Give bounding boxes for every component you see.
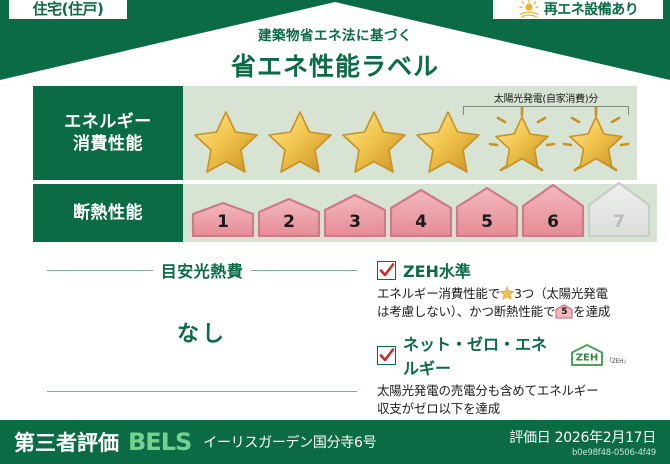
divider-left [47,270,153,271]
insulation-level-2: 2 [257,194,321,237]
energy-label-line1: エネルギー [64,111,152,133]
utility-cost-header: 目安光熱費 [33,258,371,282]
insulation-level-7: 7 [587,181,651,237]
star-solar-6 [559,104,633,176]
criterion-net-zero-description: 太陽光発電の売電分も含めてエネルギー 収支がゼロ以下を達成 [377,382,629,418]
criterion-net-zero-header: ネット・ゼロ・エネルギー ZEH 「ZEH」 [377,331,629,379]
zeh-desc-part2: 3つ（太陽光発電 [514,286,608,301]
inline-star-icon [500,286,514,300]
property-name: イーリスガーデン国分寺6号 [203,432,376,452]
star-filled-4 [411,104,485,176]
badge-renewable-equipment: 再エネ設備あり [492,0,664,20]
footer-meta: 評価日 2026年2月17日 b0e98f48-0506-4f49 [509,427,656,458]
energy-performance-label: 住宅(住戸) 再エネ設備あり 建築物省エネ法に基づく 省エネ性能ラベル [0,0,670,464]
zeh-house-logo-icon: ZEH [570,343,604,367]
criterion-zeh-level-header: ZEH水準 [377,258,629,282]
utility-cost-panel: 目安光熱費 なし [33,252,371,408]
solar-bracket-label: 太陽光発電(自家消費)分 [463,90,629,105]
insulation-level-5-number: 5 [455,212,519,232]
criterion-net-zero-title: ネット・ゼロ・エネルギー [403,331,559,379]
insulation-rating-area: 1 2 3 4 [183,184,657,242]
badge-house-type: 住宅(住戸) [8,0,128,20]
energy-performance-row: エネルギー 消費性能 太陽光発電(自家消費)分 [33,86,637,180]
insulation-label: 断熱性能 [73,202,143,224]
zeh-desc-part4: を達成 [573,304,610,319]
title-main: 省エネ性能ラベル [0,47,670,83]
insulation-performance-label-box: 断熱性能 [33,184,183,242]
criterion-zeh-level-description: エネルギー消費性能で3つ（太陽光発電 は考慮しない）、かつ断熱性能で5を達成 [377,285,629,321]
energy-rating-area: 太陽光発電(自家消費)分 [183,86,637,180]
insulation-level-3: 3 [323,191,387,237]
insulation-level-2-number: 2 [257,212,321,232]
net-zero-desc-line1: 太陽光発電の売電分も含めてエネルギー [377,383,598,398]
insulation-level-scale: 1 2 3 4 [183,181,657,242]
title-subtitle: 建築物省エネ法に基づく [0,24,670,44]
insulation-level-6-number: 6 [521,212,585,232]
utility-cost-value: なし [33,316,371,348]
criterion-zeh-level-title: ZEH水準 [403,258,471,282]
star-solar-5 [485,104,559,176]
zeh-logo-caption: 「ZEH」 [606,356,629,367]
star-rating [183,104,637,180]
evaluation-date: 評価日 2026年2月17日 [509,427,656,447]
insulation-level-4: 4 [389,187,453,237]
zeh-logo: ZEH 「ZEH」 [570,343,629,367]
insulation-level-3-number: 3 [323,212,387,232]
lower-section: 目安光熱費 なし ZEH水準 [33,252,637,408]
bels-jp-label: 第三者評価 [14,427,119,457]
criterion-net-zero-energy: ネット・ゼロ・エネルギー ZEH 「ZEH」 太陽光発電の売電分も含めてエネルギ… [377,331,629,418]
insulation-performance-row: 断熱性能 1 2 [33,184,637,242]
star-filled-3 [337,104,411,176]
checkbox-zeh-level[interactable] [377,261,396,280]
utility-cost-title: 目安光熱費 [161,258,244,282]
sun-icon [518,0,540,18]
evaluation-id: b0e98f48-0506-4f49 [509,448,656,458]
footer: 第三者評価 BELS イーリスガーデン国分寺6号 評価日 2026年2月17日 … [0,420,670,464]
inline-insulation-badge: 5 [555,304,573,319]
criteria-panel: ZEH水準 エネルギー消費性能で3つ（太陽光発電 は考慮しない）、かつ断熱性能で… [371,252,637,408]
badge-renewable-label: 再エネ設備あり [544,0,639,19]
label-content: エネルギー 消費性能 太陽光発電(自家消費)分 [33,86,637,408]
energy-label-line2: 消費性能 [73,133,143,155]
insulation-level-6: 6 [521,183,585,237]
zeh-desc-part3: は考慮しない）、かつ断熱性能で [377,304,555,319]
divider-right [251,270,357,271]
zeh-desc-part1: エネルギー消費性能で [377,286,500,301]
star-filled-1 [189,104,263,176]
star-filled-2 [263,104,337,176]
utility-cost-bottom-rule [47,391,357,392]
insulation-level-1-number: 1 [191,212,255,232]
net-zero-desc-line2: 収支がゼロ以下を達成 [377,401,500,416]
page-title: 建築物省エネ法に基づく 省エネ性能ラベル [0,24,670,83]
insulation-level-7-number: 7 [587,212,651,232]
check-icon [379,347,395,364]
checkbox-net-zero-energy[interactable] [377,346,396,365]
insulation-level-5: 5 [455,185,519,237]
energy-performance-label-box: エネルギー 消費性能 [33,86,183,180]
check-icon [379,262,395,279]
badge-house-type-label: 住宅(住戸) [33,0,104,19]
bels-en-label: BELS [128,428,191,456]
insulation-level-1: 1 [191,197,255,237]
insulation-level-4-number: 4 [389,212,453,232]
bels-logo: 第三者評価 BELS [14,427,191,457]
inline-house-number: 5 [555,306,573,319]
criterion-zeh-level: ZEH水準 エネルギー消費性能で3つ（太陽光発電 は考慮しない）、かつ断熱性能で… [377,258,629,321]
svg-text:ZEH: ZEH [576,353,598,364]
